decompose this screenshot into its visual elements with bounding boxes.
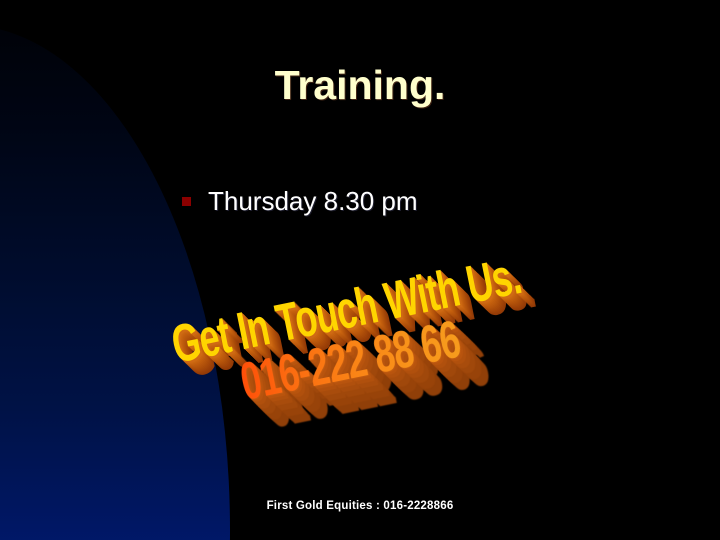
bullet-item-label: Thursday 8.30 pm <box>208 186 418 217</box>
wordart-contact-block: Get In Touch With Us. 016-222 88 66 <box>163 222 565 445</box>
bullet-square-icon <box>182 197 191 206</box>
list-item: Thursday 8.30 pm <box>182 186 662 217</box>
slide-title: Training. <box>0 62 720 109</box>
slide-footer: First Gold Equities : 016-2228866 <box>0 500 720 512</box>
bullet-list: Thursday 8.30 pm <box>182 186 662 227</box>
presentation-slide: Training. Thursday 8.30 pm Get In Touch … <box>0 0 720 540</box>
